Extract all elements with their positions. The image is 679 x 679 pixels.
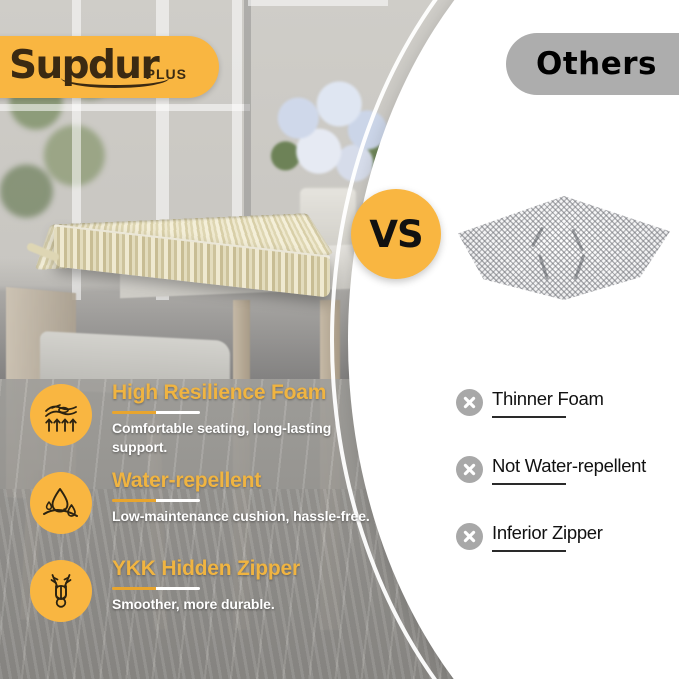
hand-pressing-foam-icon [30,384,92,446]
brand-suffix-text: PLUS [146,66,187,82]
feature-divider [112,411,200,414]
feature-title: High Resilience Foam [112,380,390,406]
feature-item: YKK Hidden Zipper Smoother, more durable… [30,556,390,644]
feature-item: High Resilience Foam Comfortable seating… [30,380,390,468]
drawback-text: Thinner Foam [492,386,604,418]
drawback-title: Inferior Zipper [492,520,603,545]
competitor-drawback-list: Thinner Foam Not Water-repellent [456,386,674,587]
supdur-plus-logo: Supdur PLUS [9,42,195,92]
feature-divider [112,587,200,590]
drawback-divider [492,550,566,552]
feature-subtitle: Smoother, more durable. [112,595,390,614]
comparison-infographic: Supdur PLUS Others VS [0,0,679,679]
drawback-title: Not Water-repellent [492,453,646,478]
vs-label: VS [369,213,422,256]
drawback-text: Not Water-repellent [492,453,646,485]
feature-list: High Resilience Foam Comfortable seating… [30,380,390,644]
brand-logo-badge: Supdur PLUS [0,36,219,98]
feature-text: High Resilience Foam Comfortable seating… [112,380,390,457]
drawback-item: Inferior Zipper [456,520,674,587]
supdur-cushion-image [38,176,338,296]
feature-text: Water-repellent Low-maintenance cushion,… [112,468,390,526]
drawback-title: Thinner Foam [492,386,604,411]
window-mullion [248,0,388,6]
others-label: Others [536,46,657,82]
x-circle-icon [456,523,483,550]
window-mullion [0,104,250,111]
others-badge: Others [506,33,679,95]
feature-divider [112,499,200,502]
feature-text: YKK Hidden Zipper Smoother, more durable… [112,556,390,614]
drawback-item: Thinner Foam [456,386,674,453]
drawback-divider [492,416,566,418]
feature-subtitle: Low-maintenance cushion, hassle-free. [112,507,390,526]
water-droplet-repel-icon [30,472,92,534]
x-circle-icon [456,456,483,483]
drawback-item: Not Water-repellent [456,453,674,520]
drawback-text: Inferior Zipper [492,520,603,552]
drawback-divider [492,483,566,485]
competitor-cushion-image [458,196,670,300]
feature-subtitle: Comfortable seating, long-lasting suppor… [112,419,390,457]
zipper-icon [30,560,92,622]
feature-title: YKK Hidden Zipper [112,556,390,582]
feature-title: Water-repellent [112,468,390,494]
feature-item: Water-repellent Low-maintenance cushion,… [30,468,390,556]
x-circle-icon [456,389,483,416]
competitor-cushion-body [458,196,670,300]
vs-badge: VS [351,189,441,279]
